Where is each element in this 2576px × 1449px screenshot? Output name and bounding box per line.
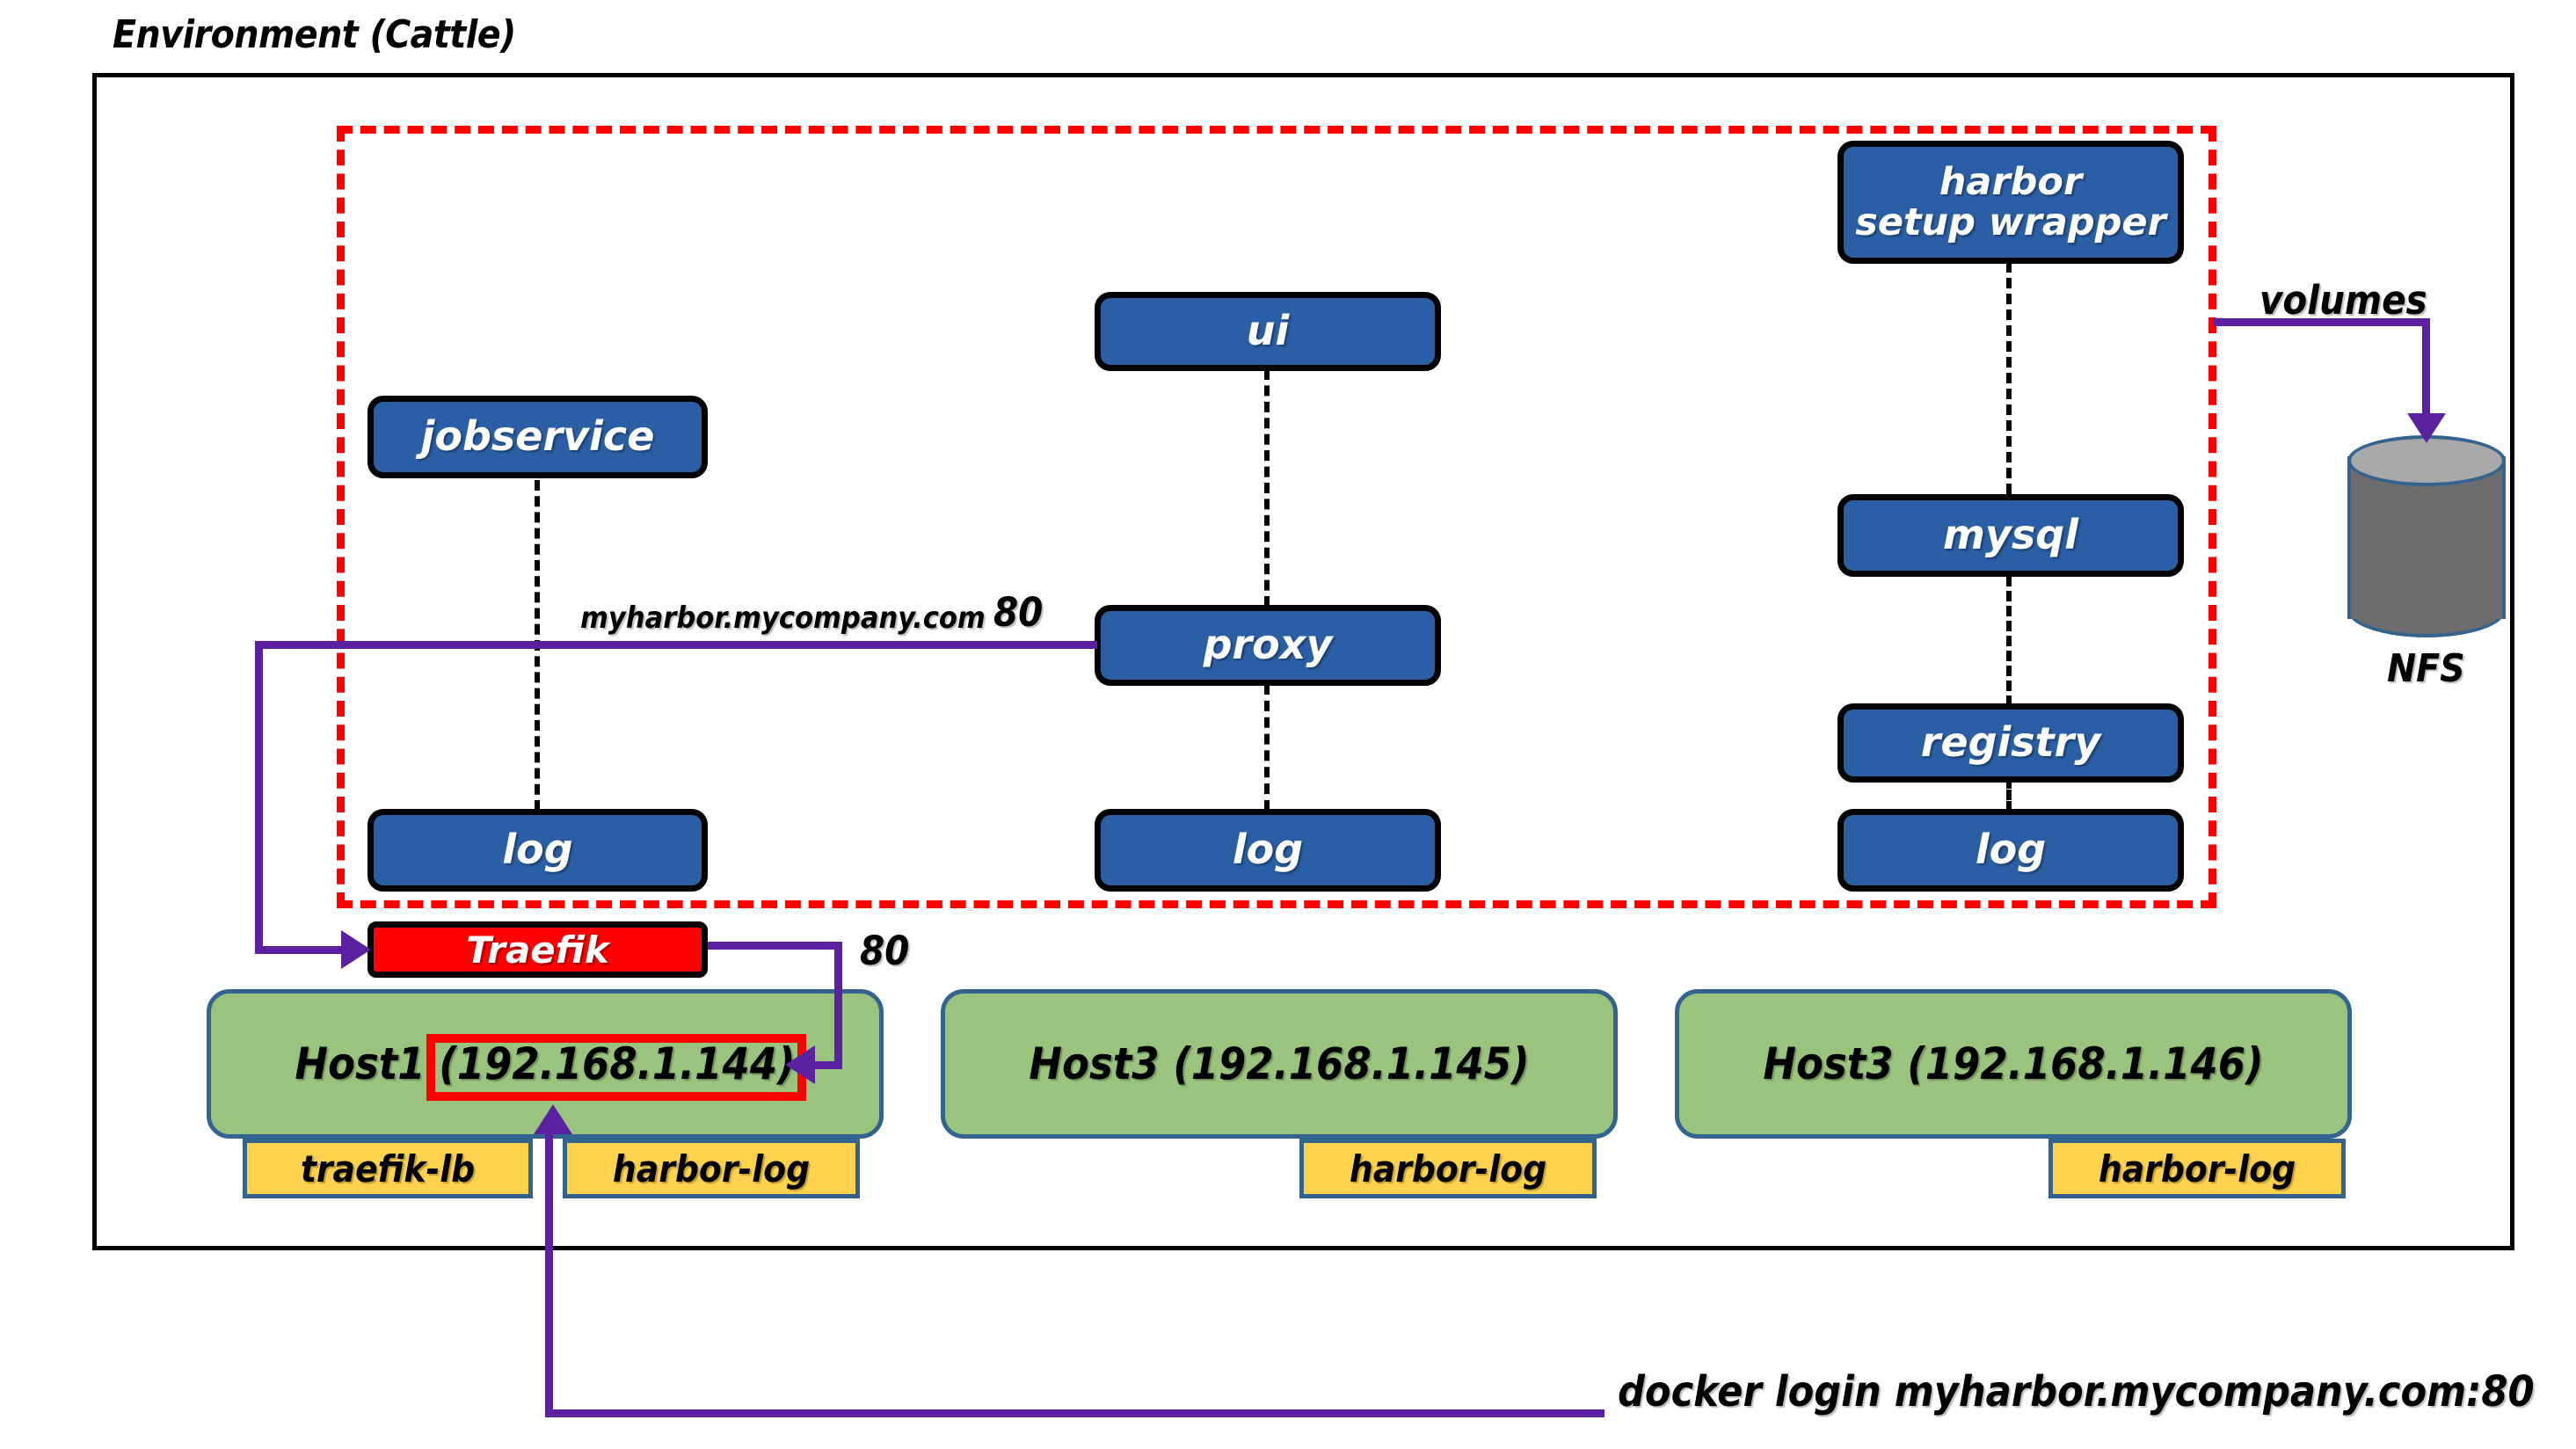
connector-hostname-to-proxy-horizontal <box>255 641 1097 649</box>
stack-label-harbor-log-host1: harbor-log <box>613 1147 810 1191</box>
service-box-log-middle[interactable]: log <box>1095 809 1441 892</box>
host-box-3[interactable]: Host3 (192.168.1.146) <box>1675 989 2352 1139</box>
stack-label-harbor-log-host3: harbor-log <box>2099 1147 2296 1191</box>
service-label-mysql: mysql <box>1943 513 2078 557</box>
connector-hostname-down-left <box>255 641 263 950</box>
service-label-log-right: log <box>1976 828 2046 872</box>
arrow-into-traefik <box>341 930 371 969</box>
service-label-harbor-wrapper-line2: setup wrapper <box>1855 202 2166 243</box>
service-box-ui[interactable]: ui <box>1095 292 1441 371</box>
connector-volumes-vertical <box>2422 318 2430 419</box>
service-label-traefik: Traefik <box>466 928 609 972</box>
host-label-1: Host1 (192.168.1.144) <box>295 1038 795 1089</box>
service-box-mysql[interactable]: mysql <box>1837 494 2184 577</box>
host-label-2: Host3 (192.168.1.145) <box>1029 1038 1529 1089</box>
service-label-log-left: log <box>502 828 572 872</box>
stack-label-harbor-log-host2: harbor-log <box>1350 1147 1546 1191</box>
connector-traefik-to-host1-horizontal <box>813 1061 842 1069</box>
host-box-2[interactable]: Host3 (192.168.1.145) <box>941 989 1618 1139</box>
service-label-harbor-wrapper-line1: harbor <box>1939 162 2082 202</box>
service-label-proxy: proxy <box>1204 623 1333 667</box>
arrow-into-nfs <box>2407 413 2446 443</box>
service-box-log-right[interactable]: log <box>1837 809 2184 892</box>
stack-chip-harbor-log-host3[interactable]: harbor-log <box>2048 1139 2346 1198</box>
connector-traefik-down-vertical <box>834 942 842 1069</box>
nfs-storage-cylinder-icon <box>2347 435 2506 637</box>
stack-chip-harbor-log-host1[interactable]: harbor-log <box>563 1139 860 1198</box>
volumes-annotation: volumes <box>2259 277 2427 324</box>
service-label-jobservice: jobservice <box>421 415 655 459</box>
arrow-into-host1-ip <box>785 1045 815 1084</box>
docker-login-annotation: docker login myharbor.mycompany.com:80 <box>1618 1367 2535 1416</box>
service-box-registry[interactable]: registry <box>1837 703 2184 783</box>
nfs-label: NFS <box>2387 646 2465 691</box>
link-mysql-registry <box>2006 576 2012 706</box>
link-wrapper-mysql <box>2006 262 2012 494</box>
service-label-ui: ui <box>1247 309 1290 353</box>
connector-traefik-out-horizontal <box>703 942 842 950</box>
connector-docker-login-vertical <box>545 1134 553 1414</box>
environment-title: Environment (Cattle) <box>113 12 516 57</box>
host-label-3: Host3 (192.168.1.146) <box>1763 1038 2263 1089</box>
service-box-proxy[interactable]: proxy <box>1095 605 1441 686</box>
service-box-harbor-setup-wrapper[interactable]: harbor setup wrapper <box>1837 141 2184 264</box>
service-box-jobservice[interactable]: jobservice <box>367 396 708 478</box>
service-label-registry: registry <box>1921 721 2101 765</box>
link-registry-log <box>2006 778 2012 812</box>
connector-docker-login-horizontal <box>545 1409 1605 1417</box>
diagram-canvas: Environment (Cattle) jobservice log ui p… <box>0 0 2576 1449</box>
stack-chip-harbor-log-host2[interactable]: harbor-log <box>1299 1139 1597 1198</box>
stack-chip-traefik-lb[interactable]: traefik-lb <box>243 1139 533 1198</box>
service-box-traefik[interactable]: Traefik <box>367 921 708 978</box>
arrow-into-host1-from-docker <box>534 1104 572 1134</box>
service-box-log-left[interactable]: log <box>367 809 708 892</box>
port-label-proxy: 80 <box>993 589 1043 636</box>
port-label-traefik: 80 <box>860 928 909 974</box>
link-proxy-log <box>1264 684 1270 811</box>
service-label-log-middle: log <box>1233 828 1303 872</box>
connector-into-traefik-horizontal <box>255 946 343 954</box>
link-ui-proxy <box>1264 369 1270 607</box>
stack-label-traefik-lb: traefik-lb <box>301 1147 475 1191</box>
hostname-annotation: myharbor.mycompany.com <box>580 601 986 636</box>
